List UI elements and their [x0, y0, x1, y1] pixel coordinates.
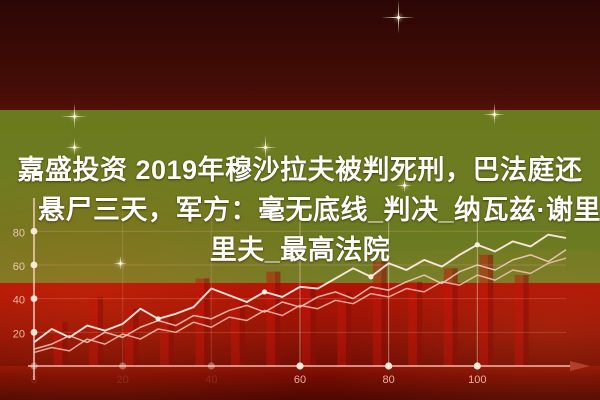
- x-tick-label: 60: [294, 374, 306, 386]
- x-tick-label: 80: [383, 374, 395, 386]
- bar-shade: [488, 255, 493, 366]
- x-tick-dot: [30, 362, 37, 369]
- y-tick-label: 40: [13, 295, 25, 307]
- data-point: [368, 274, 373, 279]
- bar-shade: [452, 268, 457, 366]
- x-tick-label: 20: [117, 374, 129, 386]
- headline-line-2: 悬尸三天，军方：毫无底线_判决_纳瓦兹·谢里夫_最高: [38, 190, 600, 230]
- x-tick-dot: [119, 362, 126, 369]
- x-tick-dot: [208, 362, 215, 369]
- data-point: [262, 289, 267, 294]
- x-tick-dot: [474, 362, 481, 369]
- y-tick-label: 20: [13, 328, 25, 340]
- x-tick-dot: [296, 362, 303, 369]
- bar-shade: [311, 285, 316, 366]
- bar-shade: [240, 302, 245, 366]
- data-point: [156, 316, 161, 321]
- bar-shade: [523, 275, 528, 366]
- background-band-top: [0, 0, 600, 110]
- bar-shade: [381, 262, 386, 366]
- banner-stage: 20406080020406080100 嘉盛投资 2019年穆沙拉夫被判死刑，…: [0, 0, 600, 400]
- bar-shade: [275, 272, 280, 366]
- bar-shade: [98, 297, 103, 366]
- bar-shade: [62, 322, 67, 366]
- x-tick-label: 0: [31, 374, 37, 386]
- bar-shade: [417, 282, 422, 366]
- x-axis-arrow-icon: [570, 361, 590, 371]
- headline-line-1: 嘉盛投资 2019年穆沙拉夫被判死刑，巴法庭还: [0, 150, 600, 190]
- headline: 嘉盛投资 2019年穆沙拉夫被判死刑，巴法庭还 悬尸三天，军方：毫无底线_判决_…: [0, 150, 600, 270]
- headline-line-3: 里夫_最高法院: [0, 230, 600, 270]
- x-tick-label: 100: [468, 374, 486, 386]
- x-tick-dot: [385, 362, 392, 369]
- x-tick-label: 40: [205, 374, 217, 386]
